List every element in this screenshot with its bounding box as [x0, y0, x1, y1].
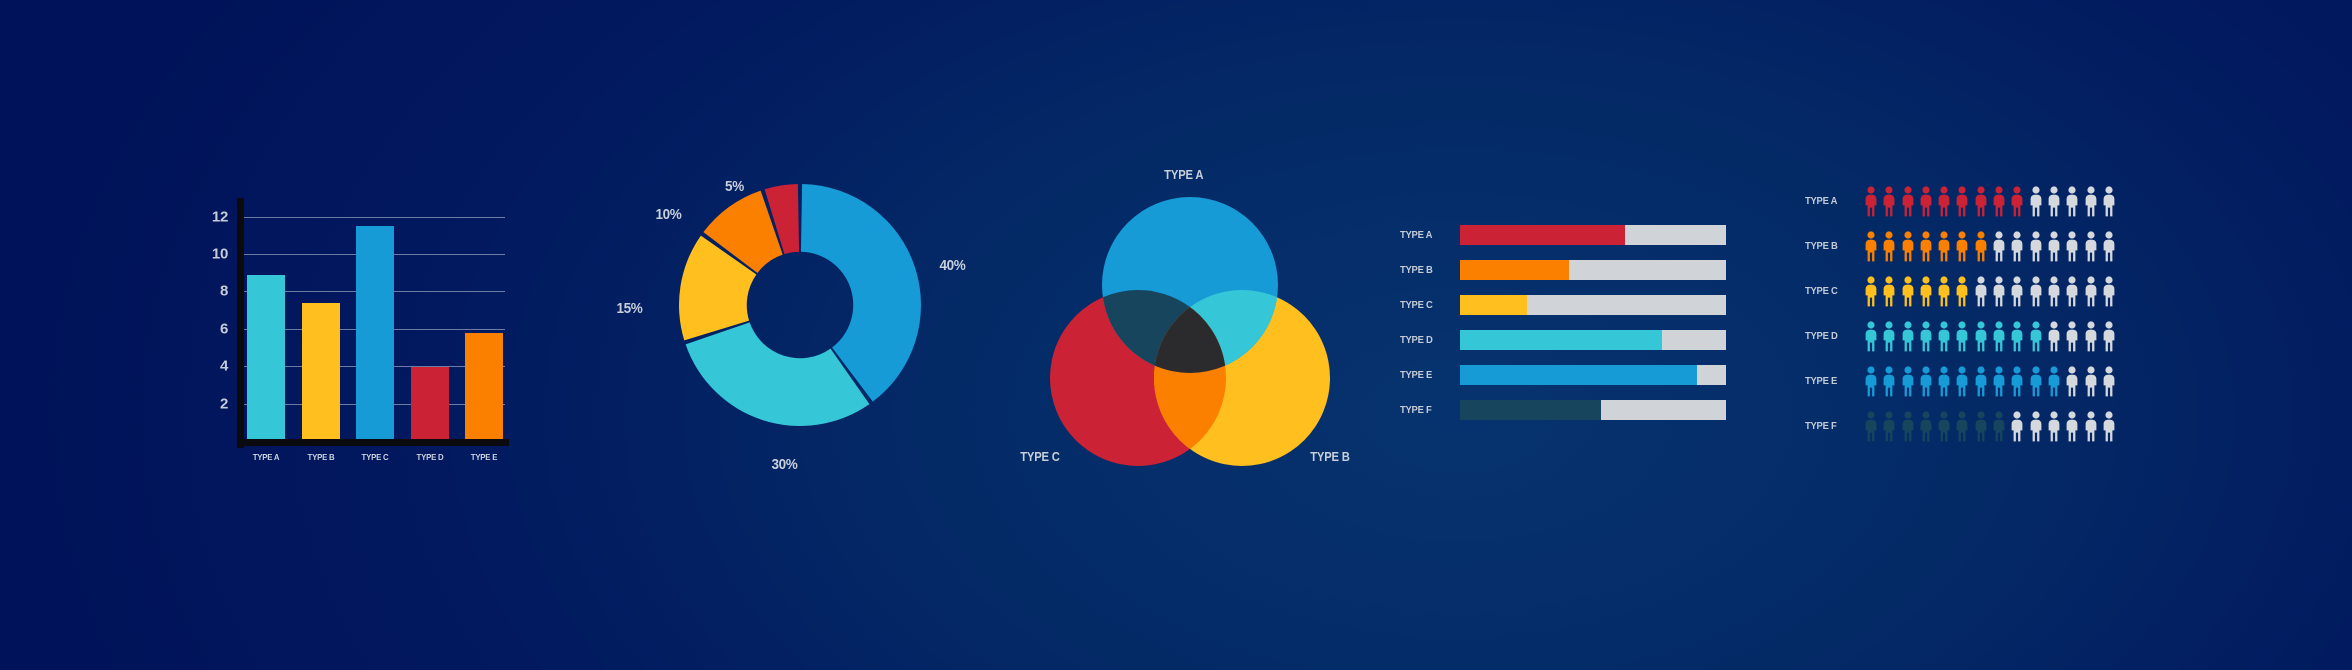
- person-icon: [2046, 366, 2062, 397]
- pictogram-icons: [1863, 186, 2117, 217]
- donut-chart: 40%30%15%10%5%: [620, 150, 1010, 510]
- vertical-bar-chart: 24681012 TYPE ATYPE BTYPE CTYPE DTYPE E: [195, 190, 515, 480]
- bar-rect[interactable]: [465, 333, 503, 439]
- person-icon: [1900, 366, 1916, 397]
- donut-slice[interactable]: [686, 322, 870, 426]
- bar-category-labels: TYPE ATYPE BTYPE CTYPE DTYPE E: [247, 452, 503, 462]
- person-icon: [2028, 321, 2044, 352]
- person-icon: [2083, 231, 2099, 262]
- person-icon: [1936, 366, 1952, 397]
- progress-bar-row[interactable]: TYPE B: [1400, 260, 1750, 280]
- person-icon: [2009, 366, 2025, 397]
- person-icon: [1991, 231, 2007, 262]
- pictogram-label: TYPE D: [1805, 330, 1857, 342]
- venn-label-type-b: TYPE B: [1310, 450, 1350, 464]
- person-icon: [1954, 366, 1970, 397]
- bar-column[interactable]: [465, 196, 503, 439]
- bar-column[interactable]: [302, 196, 340, 439]
- person-icon: [2064, 186, 2080, 217]
- person-icon: [1881, 276, 1897, 307]
- progress-bar-fill: [1460, 330, 1662, 350]
- pictogram-label: TYPE E: [1805, 375, 1857, 387]
- progress-bar-fill: [1460, 225, 1625, 245]
- person-icon: [2046, 411, 2062, 442]
- pictogram-row[interactable]: TYPE A: [1805, 180, 2117, 222]
- person-icon: [1900, 411, 1916, 442]
- person-icon: [1863, 411, 1879, 442]
- person-icon: [2009, 231, 2025, 262]
- bar-x-label: TYPE D: [412, 452, 447, 462]
- person-icon: [1881, 231, 1897, 262]
- pictogram-label: TYPE C: [1805, 285, 1857, 297]
- person-icon: [2009, 411, 2025, 442]
- infographic-board: 24681012 TYPE ATYPE BTYPE CTYPE DTYPE E …: [0, 0, 2352, 670]
- person-icon: [2009, 276, 2025, 307]
- person-icon: [1863, 231, 1879, 262]
- person-icon: [1936, 231, 1952, 262]
- venn-label-type-c: TYPE C: [1020, 450, 1060, 464]
- pictogram-row[interactable]: TYPE C: [1805, 270, 2117, 312]
- person-icon: [2028, 231, 2044, 262]
- person-icon: [1918, 366, 1934, 397]
- person-icon: [2046, 321, 2062, 352]
- person-icon: [2101, 411, 2117, 442]
- person-icon: [1954, 321, 1970, 352]
- person-icon: [2028, 366, 2044, 397]
- progress-bar-track[interactable]: [1460, 225, 1726, 245]
- venn-label-type-a: TYPE A: [1164, 168, 1203, 182]
- bar-chart-plot-area: 24681012 TYPE ATYPE BTYPE CTYPE DTYPE E: [237, 198, 505, 446]
- person-icon: [2101, 186, 2117, 217]
- progress-bar-fill: [1460, 365, 1697, 385]
- pictogram-row[interactable]: TYPE D: [1805, 315, 2117, 357]
- donut-slice-label: 5%: [725, 178, 744, 195]
- person-icon: [2064, 411, 2080, 442]
- progress-bar-track[interactable]: [1460, 330, 1726, 350]
- pictogram-icons: [1863, 366, 2117, 397]
- progress-bar-label: TYPE E: [1400, 369, 1454, 381]
- person-icon: [1900, 231, 1916, 262]
- bar-rect[interactable]: [302, 303, 340, 439]
- progress-bar-label: TYPE B: [1400, 264, 1454, 276]
- person-icon: [2101, 366, 2117, 397]
- donut-slice-label: 30%: [771, 456, 797, 473]
- person-icon: [1991, 276, 2007, 307]
- y-axis-tick-10: 10: [212, 246, 228, 263]
- y-axis-line: [237, 198, 244, 448]
- person-icon: [2046, 186, 2062, 217]
- pictogram-label: TYPE B: [1805, 240, 1857, 252]
- bar-x-label: TYPE E: [467, 452, 502, 462]
- y-axis-tick-12: 12: [212, 208, 228, 225]
- person-icon: [2083, 276, 2099, 307]
- person-icon: [2046, 231, 2062, 262]
- pictogram-icons: [1863, 411, 2117, 442]
- person-icon: [2101, 276, 2117, 307]
- pictogram-label: TYPE F: [1805, 420, 1857, 432]
- bar-series: [247, 196, 503, 439]
- person-icon: [1991, 411, 2007, 442]
- person-icon: [1954, 186, 1970, 217]
- person-icon: [1918, 321, 1934, 352]
- pictogram-icons: [1863, 321, 2117, 352]
- person-icon: [1900, 186, 1916, 217]
- person-icon: [2064, 321, 2080, 352]
- venn-svg: [1010, 160, 1370, 500]
- pictogram-row[interactable]: TYPE E: [1805, 360, 2117, 402]
- person-icon: [2083, 366, 2099, 397]
- progress-bar-fill: [1460, 400, 1601, 420]
- person-icon: [1954, 231, 1970, 262]
- venn-diagram: TYPE A TYPE B TYPE C: [1010, 160, 1370, 500]
- person-icon: [1863, 321, 1879, 352]
- person-icon: [2064, 231, 2080, 262]
- pictogram-icons: [1863, 231, 2117, 262]
- person-icon: [2083, 411, 2099, 442]
- donut-svg: [675, 180, 925, 430]
- pictogram-row[interactable]: TYPE B: [1805, 225, 2117, 267]
- y-axis-tick-6: 6: [220, 320, 228, 337]
- progress-bar-label: TYPE D: [1400, 334, 1454, 346]
- bar-column[interactable]: [247, 196, 285, 439]
- person-icon: [1936, 411, 1952, 442]
- person-icon: [1918, 276, 1934, 307]
- y-axis-tick-8: 8: [220, 283, 228, 300]
- person-icon: [1881, 411, 1897, 442]
- person-icon: [1863, 366, 1879, 397]
- person-icon: [2046, 276, 2062, 307]
- progress-bar-label: TYPE A: [1400, 229, 1454, 241]
- person-icon: [2101, 321, 2117, 352]
- bar-x-label: TYPE B: [303, 452, 338, 462]
- person-icon: [2028, 411, 2044, 442]
- bar-x-label: TYPE A: [249, 452, 284, 462]
- x-axis-line: [237, 439, 509, 446]
- pictogram-row[interactable]: TYPE F: [1805, 405, 2117, 447]
- person-icon: [1973, 276, 1989, 307]
- person-icon: [1991, 186, 2007, 217]
- person-icon: [1973, 411, 1989, 442]
- person-icon: [2028, 276, 2044, 307]
- person-icon: [1973, 231, 1989, 262]
- donut-slice-label: 40%: [939, 257, 965, 274]
- person-icon: [1918, 231, 1934, 262]
- bar-x-label: TYPE C: [358, 452, 393, 462]
- pictogram-chart: TYPE A: [1805, 180, 2225, 480]
- progress-bar-track[interactable]: [1460, 295, 1726, 315]
- donut-slice-label: 15%: [616, 300, 642, 317]
- person-icon: [1881, 186, 1897, 217]
- horizontal-progress-bars: TYPE ATYPE BTYPE CTYPE DTYPE ETYPE F: [1400, 225, 1760, 445]
- person-icon: [1863, 186, 1879, 217]
- person-icon: [2101, 231, 2117, 262]
- progress-bar-row[interactable]: TYPE C: [1400, 295, 1750, 315]
- progress-bar-row[interactable]: TYPE E: [1400, 365, 1750, 385]
- progress-bar-label: TYPE F: [1400, 404, 1454, 416]
- progress-bar-track[interactable]: [1460, 400, 1726, 420]
- progress-bar-fill: [1460, 260, 1569, 280]
- progress-bar-row[interactable]: TYPE A: [1400, 225, 1750, 245]
- pictogram-icons: [1863, 276, 2117, 307]
- person-icon: [2028, 186, 2044, 217]
- person-icon: [1881, 366, 1897, 397]
- progress-bar-fill: [1460, 295, 1527, 315]
- person-icon: [1918, 411, 1934, 442]
- person-icon: [1900, 321, 1916, 352]
- bar-rect[interactable]: [356, 226, 394, 439]
- person-icon: [1900, 276, 1916, 307]
- person-icon: [2083, 321, 2099, 352]
- progress-bar-row[interactable]: TYPE D: [1400, 330, 1750, 350]
- person-icon: [1881, 321, 1897, 352]
- y-axis-tick-4: 4: [220, 358, 228, 375]
- person-icon: [1863, 276, 1879, 307]
- progress-bar-track[interactable]: [1460, 260, 1726, 280]
- person-icon: [1973, 186, 1989, 217]
- person-icon: [1954, 276, 1970, 307]
- person-icon: [2083, 186, 2099, 217]
- person-icon: [2009, 186, 2025, 217]
- person-icon: [1918, 186, 1934, 217]
- pictogram-label: TYPE A: [1805, 195, 1857, 207]
- bar-column[interactable]: [411, 196, 449, 439]
- bar-rect[interactable]: [411, 367, 449, 439]
- donut-slice-label: 10%: [655, 206, 681, 223]
- person-icon: [2064, 366, 2080, 397]
- progress-bar-track[interactable]: [1460, 365, 1726, 385]
- donut-graphic: [675, 180, 925, 430]
- person-icon: [1991, 321, 2007, 352]
- y-axis-tick-2: 2: [220, 395, 228, 412]
- person-icon: [1936, 321, 1952, 352]
- bar-column[interactable]: [356, 196, 394, 439]
- person-icon: [2064, 276, 2080, 307]
- person-icon: [1991, 366, 2007, 397]
- person-icon: [1936, 186, 1952, 217]
- person-icon: [1973, 321, 1989, 352]
- progress-bar-row[interactable]: TYPE F: [1400, 400, 1750, 420]
- bar-rect[interactable]: [247, 275, 285, 439]
- person-icon: [2009, 321, 2025, 352]
- progress-bar-label: TYPE C: [1400, 299, 1454, 311]
- person-icon: [1954, 411, 1970, 442]
- person-icon: [1936, 276, 1952, 307]
- person-icon: [1973, 366, 1989, 397]
